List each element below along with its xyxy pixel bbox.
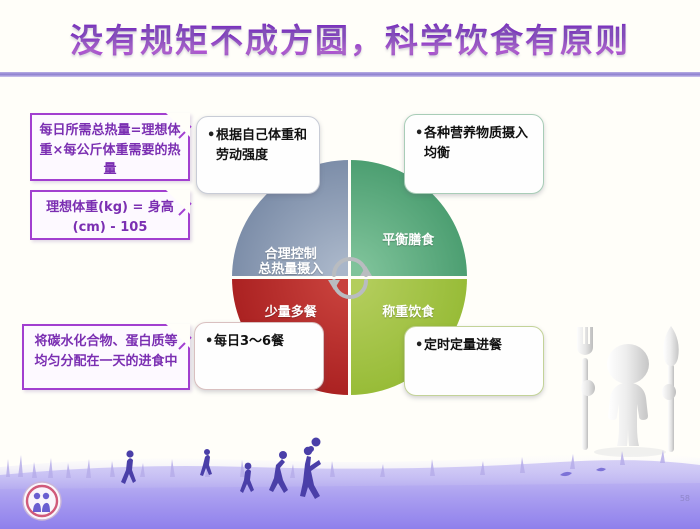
page-title-container: 没有规矩不成方圆，科学饮食有原则 bbox=[0, 14, 700, 62]
wheel-quadrant-small-frequent-meals-label: 少量多餐 bbox=[232, 304, 350, 322]
note-box-nutrient-distribution-text: 将碳水化合物、蛋白质等均匀分配在一天的进食中 bbox=[34, 334, 177, 369]
callout-bottom-right-text: 定时定量进餐 bbox=[424, 336, 532, 356]
note-box-ideal-weight: 理想体重(kg) = 身高(cm) - 105 bbox=[30, 190, 190, 240]
page-title: 没有规矩不成方圆，科学饮食有原则 bbox=[70, 14, 630, 62]
slide-canvas: 没有规矩不成方圆，科学饮食有原则 每日所需总热量=理想体重×每公斤体重需要的热量… bbox=[0, 0, 700, 529]
note-box-daily-calories: 每日所需总热量=理想体重×每公斤体重需要的热量 bbox=[30, 113, 190, 181]
family-circle-logo-icon bbox=[22, 481, 62, 521]
bottom-decoration-band: 58 bbox=[0, 437, 700, 529]
note-box-nutrient-distribution: 将碳水化合物、蛋白质等均匀分配在一天的进食中 bbox=[22, 324, 190, 390]
grass-silhouette-band-icon bbox=[0, 437, 700, 529]
callout-bottom-left-text: 每日3～6餐 bbox=[214, 332, 312, 352]
cycle-arrows-icon bbox=[325, 253, 375, 303]
page-number: 58 bbox=[680, 494, 690, 503]
callout-bottom-right: •定时定量进餐 bbox=[404, 326, 544, 396]
callout-top-right-bullet: • bbox=[415, 124, 424, 144]
callout-top-right: •各种营养物质摄入均衡 bbox=[404, 114, 544, 194]
note-box-ideal-weight-text: 理想体重(kg) = 身高(cm) - 105 bbox=[46, 200, 174, 235]
callout-top-left: •根据自己体重和劳动强度 bbox=[196, 116, 320, 194]
callout-top-right-text: 各种营养物质摄入均衡 bbox=[424, 124, 532, 163]
callout-top-left-bullet: • bbox=[207, 126, 216, 146]
wheel-quadrant-balanced-diet-label: 平衡膳食 bbox=[350, 232, 468, 250]
callout-bottom-left-bullet: • bbox=[205, 332, 214, 352]
title-divider bbox=[0, 72, 700, 77]
callout-top-left-text: 根据自己体重和劳动强度 bbox=[216, 126, 308, 165]
note-box-daily-calories-text: 每日所需总热量=理想体重×每公斤体重需要的热量 bbox=[40, 123, 181, 177]
callout-bottom-right-bullet: • bbox=[415, 336, 424, 356]
wheel-quadrant-weighed-diet-label: 称重饮食 bbox=[350, 304, 468, 322]
callout-bottom-left: •每日3～6餐 bbox=[194, 322, 324, 390]
